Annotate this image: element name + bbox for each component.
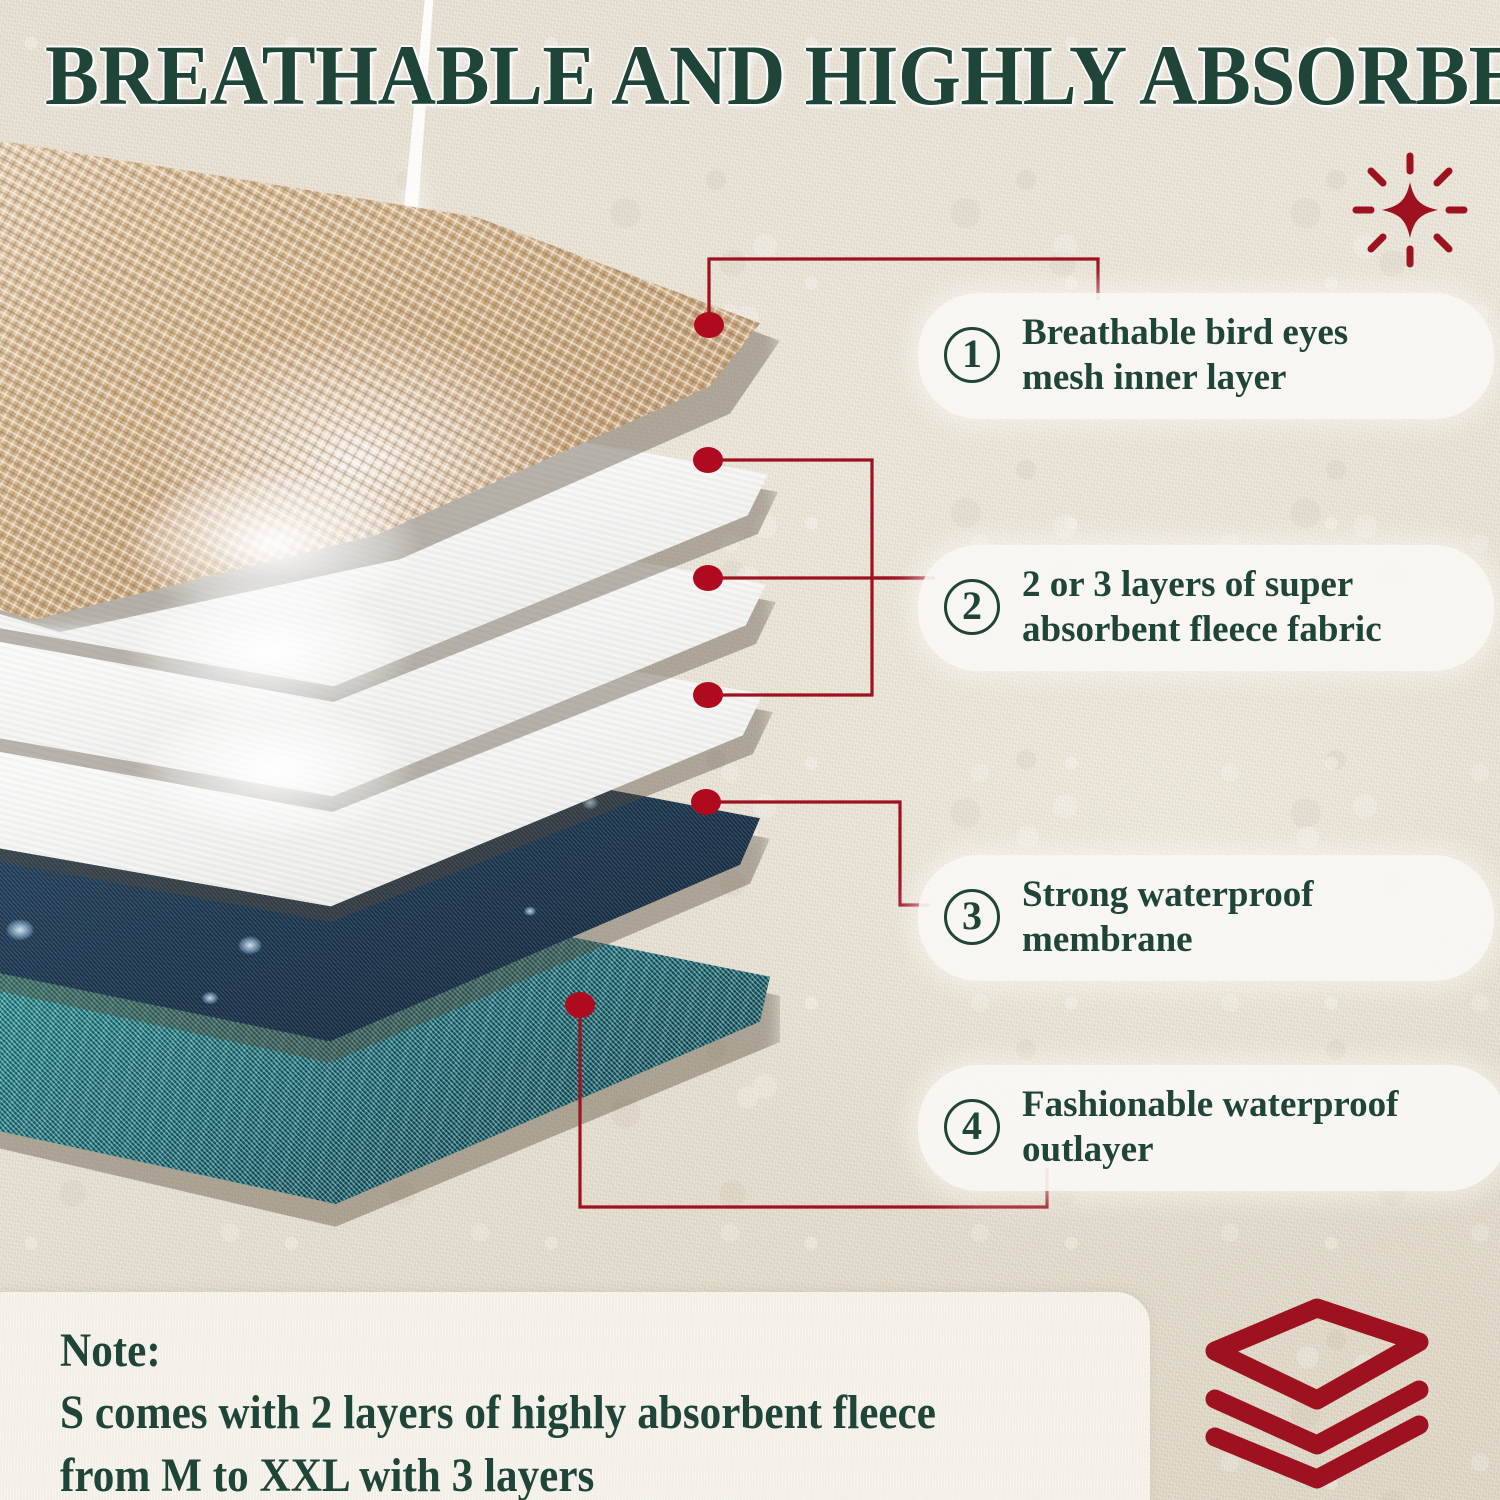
callout-number-3: 3 xyxy=(944,889,1000,945)
callout-text-1: Breathable bird eyes mesh inner layer xyxy=(1022,310,1348,400)
note-panel: Note: S comes with 2 layers of highly ab… xyxy=(0,1292,1150,1500)
layers-stack-icon xyxy=(1192,1295,1442,1490)
product-infographic: BREATHABLE AND HIGHLY ABSORBENT xyxy=(0,0,1500,1500)
callout-waterproof-outlayer[interactable]: 4 Fashionable waterproof outlayer xyxy=(918,1065,1500,1191)
callout-number-2: 2 xyxy=(944,579,1000,635)
callout-text-2: 2 or 3 layers of super absorbent fleece … xyxy=(1022,562,1382,652)
callout-absorbent-fleece-fabric[interactable]: 2 2 or 3 layers of super absorbent fleec… xyxy=(918,545,1494,671)
sparkle-icon xyxy=(1352,152,1468,268)
callout-text-3: Strong waterproof membrane xyxy=(1022,872,1314,962)
callout-number-1: 1 xyxy=(944,327,1000,383)
callout-number-4: 4 xyxy=(944,1099,1000,1155)
fabric-layer-stack-illustration xyxy=(0,90,860,1170)
page-title: BREATHABLE AND HIGHLY ABSORBENT xyxy=(45,32,1455,118)
callout-waterproof-membrane[interactable]: 3 Strong waterproof membrane xyxy=(918,855,1494,981)
callout-text-4: Fashionable waterproof outlayer xyxy=(1022,1082,1399,1172)
note-text: Note: S comes with 2 layers of highly ab… xyxy=(60,1320,1005,1500)
callout-breathable-mesh-inner-layer[interactable]: 1 Breathable bird eyes mesh inner layer xyxy=(918,293,1494,419)
